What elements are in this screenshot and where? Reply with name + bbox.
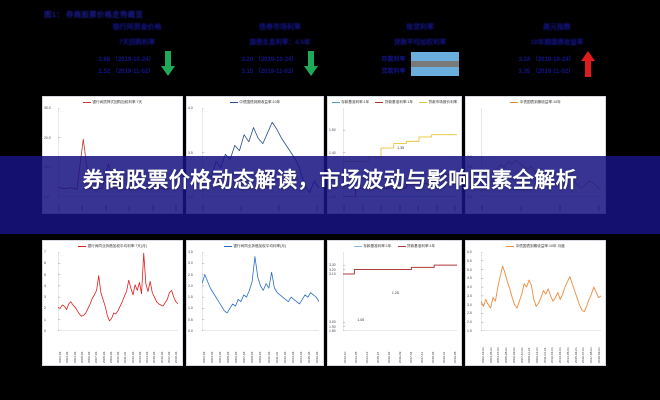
y-tick-label: 4.0 — [188, 106, 193, 110]
y-tick-label: 6.0 — [467, 250, 472, 254]
y-tick-label: 0.0 — [188, 329, 193, 333]
x-tick-label: 2006-06 — [87, 333, 91, 363]
summary-card-values: 3.20 （2019-10-24） 3.15 （2019-11-02） — [241, 54, 297, 75]
deck-heading: 图1： 券商股票价格走势概览 — [44, 9, 143, 20]
title-overlay-band: 券商股票价格动态解读，市场波动与影响因素全解析 — [0, 156, 660, 234]
y-tick-label: 3 — [44, 295, 46, 299]
x-tick-label: 2019-01 — [442, 333, 446, 363]
x-tick-label: 2017-04 — [409, 333, 413, 363]
y-tick-label: 6 — [44, 261, 46, 265]
x-tick-label: 2011-01-01 — [543, 333, 547, 363]
summary-card-body: 3.20 （2019-10-24） 3.15 （2019-11-02） — [205, 51, 355, 77]
y-tick-label: 5 — [44, 273, 46, 277]
y-tick-label: 1 — [44, 318, 46, 322]
y-tick-label: 4.5 — [467, 276, 472, 280]
y-tick-label: 3.10 — [329, 272, 336, 276]
x-tick-label: 2014-05 — [354, 333, 358, 363]
x-tick-label: 2015-06-01 — [574, 333, 578, 363]
summary-card-title: 信贷利率 — [345, 22, 495, 32]
bottom-letterbox — [0, 366, 660, 400]
x-tick-label: 2010-06 — [267, 333, 271, 363]
y-tick-label: 3.5 — [467, 294, 472, 298]
x-tick-label: 2012-06 — [283, 333, 287, 363]
chart-plot — [481, 252, 601, 331]
summary-card-value: 2.52 （2019-11-02） — [98, 66, 154, 75]
y-tick-label: 2.5 — [188, 273, 193, 277]
x-tick-label: 2002-02-01 — [481, 333, 485, 363]
summary-card-title: 债券市场利率 — [205, 22, 355, 32]
x-tick-label: 2014-05-01 — [566, 333, 570, 363]
x-tick-label: 2015-07 — [376, 333, 380, 363]
x-tick-label: 2004-07-01 — [496, 333, 500, 363]
chart-annotation: 1.25 — [392, 291, 399, 295]
legend-label: 银行间同业拆借加权平均利率:7天(月) — [88, 244, 147, 249]
y-tick-label: 1.90 — [329, 325, 336, 329]
arrow-up-icon — [580, 51, 596, 77]
x-tick-label: 2006-06 — [234, 333, 238, 363]
y-tick-label: 3.20 — [329, 268, 336, 272]
x-tick-label: 2002-06 — [58, 333, 62, 363]
arrow-down-icon — [160, 51, 176, 77]
x-tick-label: 2014-06 — [299, 333, 303, 363]
x-tick-label: 2002-06 — [202, 333, 206, 363]
chart-xaxis: 2002-02-012003-05-012004-07-012005-08-01… — [481, 333, 601, 363]
x-tick-label: 2013-04-01 — [558, 333, 562, 363]
x-tick-label: 2014-06 — [145, 333, 149, 363]
y-tick-label: 3.5 — [188, 151, 193, 155]
legend-label: 银行间同业拆借加权平均利率(月) — [233, 244, 286, 249]
legend-label: 存款基准利率:1年 — [363, 244, 391, 249]
summary-card-1[interactable]: 债券市场利率 国债生息利率：4.5年 3.20 （2019-10-24） 3.1… — [205, 22, 355, 88]
y-tick-label: 1.80 — [329, 329, 336, 333]
y-tick-label: 4 — [44, 284, 46, 288]
y-tick-label: 4.0 — [467, 285, 472, 289]
chart-annotation: 1.35 — [397, 146, 404, 150]
summary-card-values: 3.24 （2019-10-24） 3.35 （2019-11-02） — [518, 54, 574, 75]
x-tick-label: 2014-12 — [365, 333, 369, 363]
x-tick-label: 2007-06 — [242, 333, 246, 363]
legend-label: 存款基准利率:1年 — [341, 100, 369, 105]
y-tick-label: 2 — [44, 306, 46, 310]
arrow-down-icon — [303, 51, 319, 77]
summary-card-value: 贷款利率 — [381, 66, 405, 75]
chart-xaxis: 2013-102014-052014-122015-072016-022016-… — [343, 333, 457, 363]
summary-card-subtitle: 国债生息利率：4.5年 — [205, 36, 355, 46]
x-tick-label: 2016-07-01 — [581, 333, 585, 363]
x-tick-label: 2018-09-01 — [597, 333, 601, 363]
y-tick-label: 2.0 — [467, 320, 472, 324]
legend-label: 中债国债到期收益率:10年 月度 — [516, 244, 565, 249]
x-tick-label: 2006-09-01 — [512, 333, 516, 363]
legend-label: 中债国债到期收益率:10年 — [239, 100, 280, 105]
x-tick-label: 2005-06 — [226, 333, 230, 363]
y-tick-label: 1.0 — [188, 306, 193, 310]
summary-card-0[interactable]: 银行间资金价格 7天回购利率 2.68 （2019-10-24） 2.52 （2… — [62, 22, 212, 88]
summary-card-values: 2.68 （2019-10-24） 2.52 （2019-11-02） — [98, 54, 154, 75]
y-tick-label: 0.5 — [188, 318, 193, 322]
legend-label: 银行间质押式回购加权利率:7天 — [92, 100, 142, 105]
x-tick-label: 2005-06 — [80, 333, 84, 363]
chart-legend: 银行间同业拆借加权平均利率(月) — [187, 244, 323, 249]
summary-card-body: 存款利率 贷款利率 — [345, 51, 495, 77]
summary-card-subtitle: 7天回购利率 — [62, 36, 212, 46]
chart-xaxis: 2002-062003-062004-062005-062006-062007-… — [58, 333, 178, 363]
chart-plot — [58, 252, 178, 331]
summary-card-values: 存款利率 贷款利率 — [381, 54, 405, 75]
chart-panel-bottom-3[interactable]: 中债国债到期收益率:10年 月度 2002-02-012003-05-01200… — [465, 240, 606, 366]
x-tick-label: 2009-06 — [258, 333, 262, 363]
x-tick-label: 2013-06 — [291, 333, 295, 363]
summary-card-value: 存款利率 — [381, 54, 405, 63]
x-tick-label: 2003-05-01 — [489, 333, 493, 363]
chart-plot — [202, 252, 319, 331]
x-tick-label: 2013-10 — [343, 333, 347, 363]
chart-panel-bottom-2[interactable]: 存款基准利率:1年 贷款基准利率:1年 1.25 1.05 2013-10201… — [327, 240, 462, 366]
chart-panel-bottom-0[interactable]: 银行间同业拆借加权平均利率:7天(月) 2002-062003-062004-0… — [42, 240, 183, 366]
x-tick-label: 2017-06 — [167, 333, 171, 363]
y-tick-label: 5.5 — [467, 259, 472, 263]
summary-card-value: 2.68 （2019-10-24） — [98, 54, 154, 63]
y-tick-label: 1.5 — [188, 295, 193, 299]
header-summary-band: 图1： 券商股票价格走势概览 银行间资金价格 7天回购利率 2.68 （2019… — [0, 0, 660, 95]
y-tick-label: 5.0 — [467, 268, 472, 272]
summary-card-2[interactable]: 信贷利率 贷款平均加权利率 存款利率 贷款利率 — [345, 22, 495, 88]
x-tick-label: 2003-06 — [65, 333, 69, 363]
chart-legend: 中债国债到期收益率:10年 — [187, 100, 323, 105]
chart-legend: 中债国债到期收益率:10年 月度 — [466, 244, 605, 249]
x-tick-label: 2010-06 — [116, 333, 120, 363]
summary-card-subtitle: 贷款平均加权利率 — [345, 36, 495, 46]
y-tick-label: 2.5 — [467, 311, 472, 315]
y-tick-label: 1.40 — [329, 151, 336, 155]
x-tick-label: 2017-11 — [420, 333, 424, 363]
chart-legend: 中债国债到期收益率:10年 — [466, 100, 605, 105]
y-tick-label: 3.5 — [188, 250, 193, 254]
y-tick-label: 3.0 — [467, 303, 472, 307]
chart-panel-bottom-1[interactable]: 银行间同业拆借加权平均利率(月) 2002-062003-062004-0620… — [186, 240, 324, 366]
summary-card-value: 3.35 （2019-11-02） — [518, 66, 574, 75]
summary-card-value: 3.15 （2019-11-02） — [241, 66, 297, 75]
x-tick-label: 2015-06 — [152, 333, 156, 363]
summary-card-body: 2.68 （2019-10-24） 2.52 （2019-11-02） — [62, 51, 212, 77]
legend-label: 贷款基准利率:1年 — [385, 100, 413, 105]
legend-label: 贷款市场报价利率 — [429, 100, 458, 105]
x-tick-label: 2012-02-01 — [550, 333, 554, 363]
summary-card-title: 银行间资金价格 — [62, 22, 212, 32]
x-tick-label: 2004-06 — [73, 333, 77, 363]
x-tick-label: 2016-06 — [315, 333, 319, 363]
chart-legend: 存款基准利率:1年 贷款基准利率:1年 贷款市场报价利率 — [328, 100, 461, 105]
chart-legend: 存款基准利率:1年 贷款基准利率:1年 — [328, 244, 461, 249]
x-tick-label: 2008-06 — [250, 333, 254, 363]
x-tick-label: 2003-06 — [210, 333, 214, 363]
summary-card-value: 3.24 （2019-10-24） — [518, 54, 574, 63]
flat-bars-icon — [411, 51, 459, 77]
y-tick-label: 7 — [44, 250, 46, 254]
y-tick-label: 0 — [44, 329, 46, 333]
y-tick-label: 1.50 — [329, 128, 336, 132]
x-tick-label: 2008-06 — [102, 333, 106, 363]
x-tick-label: 2011-06 — [275, 333, 279, 363]
x-tick-label: 2013-06 — [138, 333, 142, 363]
legend-label: 贷款基准利率:1年 — [407, 244, 435, 249]
y-tick-label: 3.00 — [329, 320, 336, 324]
x-tick-label: 2018-06 — [431, 333, 435, 363]
x-tick-label: 2016-09 — [398, 333, 402, 363]
x-tick-label: 2012-06 — [131, 333, 135, 363]
x-tick-label: 2007-10-01 — [520, 333, 524, 363]
x-tick-label: 2008-11-01 — [527, 333, 531, 363]
x-tick-label: 2019-08 — [453, 333, 457, 363]
x-tick-label: 2005-08-01 — [504, 333, 508, 363]
screenshot-stage: 图1： 券商股票价格走势概览 银行间资金价格 7天回购利率 2.68 （2019… — [0, 0, 660, 400]
y-tick-label: 2.0 — [188, 284, 193, 288]
summary-card-value: 3.20 （2019-10-24） — [241, 54, 297, 63]
chart-legend: 银行间质押式回购加权利率:7天 — [43, 100, 182, 105]
x-tick-label: 2017-08-01 — [589, 333, 593, 363]
x-tick-label: 2018-06 — [174, 333, 178, 363]
legend-label: 中债国债到期收益率:10年 — [520, 100, 561, 105]
y-tick-label: 20.0 — [44, 136, 51, 140]
x-tick-label: 2011-06 — [123, 333, 127, 363]
x-tick-label: 2015-06 — [307, 333, 311, 363]
y-tick-label: 1.5 — [467, 329, 472, 333]
y-tick-label: 3.30 — [329, 263, 336, 267]
x-tick-label: 2007-06 — [94, 333, 98, 363]
x-tick-label: 2004-06 — [218, 333, 222, 363]
overlay-title: 券商股票价格动态解读，市场波动与影响因素全解析 — [26, 165, 634, 196]
chart-legend: 银行间同业拆借加权平均利率:7天(月) — [43, 244, 182, 249]
y-tick-label: 3.0 — [188, 261, 193, 265]
x-tick-label: 2009-06 — [109, 333, 113, 363]
chart-annotation: 1.05 — [357, 318, 364, 322]
chart-xaxis: 2002-062003-062004-062005-062006-062007-… — [202, 333, 319, 363]
x-tick-label: 2009-12-01 — [535, 333, 539, 363]
y-tick-label: 30.0 — [44, 106, 51, 110]
x-tick-label: 2016-06 — [160, 333, 164, 363]
x-tick-label: 2016-02 — [387, 333, 391, 363]
